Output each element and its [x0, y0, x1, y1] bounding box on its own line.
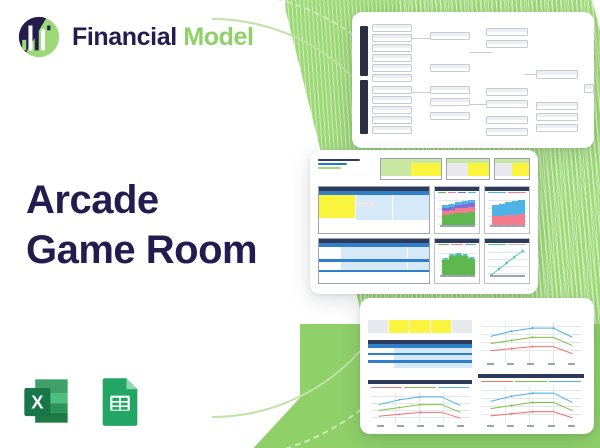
brand-logo: Financial Model — [16, 14, 254, 60]
dupont-node — [486, 100, 528, 108]
dupont-node — [430, 32, 470, 40]
reports-table-revenue-analysis — [368, 340, 472, 376]
chart-legend — [435, 191, 479, 194]
financial-model-circle-chart-logo-icon — [16, 14, 62, 60]
reports-table-assumptions — [368, 320, 472, 338]
stacked-bar — [442, 205, 449, 225]
chart-line-series — [481, 322, 582, 363]
dupont-node — [486, 128, 528, 136]
dashboard-table-cash-inputs — [318, 186, 430, 234]
bar — [462, 254, 469, 275]
chart-x-axis — [440, 275, 475, 278]
dupont-node — [486, 88, 528, 96]
chart-legend — [368, 386, 472, 389]
dupont-node — [372, 64, 412, 72]
chart-bars — [442, 196, 475, 225]
chart-plot-area — [488, 248, 527, 278]
dashboard-thumbnail — [310, 150, 538, 294]
chart-line-series — [481, 386, 582, 423]
bar — [449, 254, 456, 275]
dupont-node — [372, 54, 412, 62]
stacked-bar — [492, 205, 499, 225]
chart-plot-area — [481, 386, 582, 423]
dupont-node — [372, 116, 412, 124]
chart-plot-area — [438, 196, 477, 228]
chart-profitability — [484, 186, 530, 234]
dupont-node — [372, 96, 412, 104]
brand-name-primary: Financial — [72, 23, 177, 51]
dupont-node — [536, 102, 578, 110]
reports-thumbnail — [360, 298, 594, 434]
dupont-node — [430, 98, 470, 106]
chart-gross-margin-projection — [368, 386, 472, 428]
dupont-node — [486, 116, 528, 124]
chart-bars — [492, 196, 525, 225]
chart-top-revenue-streams — [434, 186, 480, 234]
dupont-node — [430, 86, 470, 94]
chart-legend — [478, 380, 584, 383]
page-title-line-2: Game Room — [26, 226, 257, 276]
brand-name-secondary: Model — [183, 23, 253, 51]
dashboard-table-core-financials — [318, 238, 430, 284]
chart-x-axis — [480, 363, 582, 366]
dupont-node — [536, 113, 578, 121]
dashboard-table-key-metrics — [446, 158, 490, 180]
chart-legend — [485, 191, 529, 194]
chart-legend — [485, 243, 529, 246]
dupont-tree-diagram — [352, 12, 594, 148]
stacked-bar — [468, 200, 475, 225]
dupont-node — [372, 86, 412, 94]
chart-title-bar — [368, 380, 472, 384]
background-green-wedge — [248, 324, 368, 448]
chart-bars — [442, 248, 475, 275]
preview-card-financial-dashboard[interactable] — [310, 150, 538, 294]
dupont-node — [486, 40, 528, 48]
dashboard-title-block — [318, 159, 360, 170]
dupont-node — [372, 74, 412, 82]
dupont-connector — [470, 52, 492, 53]
dupont-node — [430, 64, 470, 72]
chart-investment-payback — [484, 238, 530, 284]
preview-card-financial-reports[interactable] — [360, 298, 594, 434]
dupont-node — [430, 112, 470, 120]
chart-x-axis — [440, 225, 475, 228]
dupont-band-income-statement — [360, 26, 368, 76]
promo-slide: Financial Model Arcade Game Room X — [0, 0, 600, 448]
excel-icon[interactable]: X — [20, 375, 72, 427]
dupont-band-balance-sheet — [360, 80, 368, 134]
google-sheets-icon[interactable] — [94, 375, 146, 427]
chart-net-profit-trend — [478, 380, 584, 428]
page-title-line-1: Arcade — [26, 176, 257, 226]
stacked-bar — [518, 200, 525, 225]
chart-plot-area — [488, 196, 527, 228]
svg-text:X: X — [31, 392, 44, 413]
dupont-node — [372, 34, 412, 42]
chart-plot-area — [481, 322, 582, 363]
dupont-node — [536, 124, 578, 132]
dupont-node — [536, 70, 578, 79]
chart-x-axis — [480, 425, 582, 428]
stacked-bar — [505, 202, 512, 225]
stacked-bar — [449, 204, 456, 225]
dupont-node — [372, 106, 412, 114]
chart-plot-area — [438, 248, 477, 278]
stacked-bar — [462, 201, 469, 225]
bar — [442, 258, 449, 275]
dupont-node — [372, 44, 412, 52]
bar — [455, 253, 462, 275]
bar — [468, 257, 475, 275]
chart-plot-area — [371, 392, 470, 423]
chart-cash-flow — [434, 238, 480, 284]
chart-line-series — [488, 248, 527, 278]
chart-ebitda-comparison — [478, 320, 584, 368]
chart-line-series — [371, 392, 470, 423]
page-title: Arcade Game Room — [26, 176, 257, 275]
dupont-node — [372, 126, 412, 134]
dashboard-table-margins — [494, 158, 530, 180]
chart-x-axis — [490, 225, 525, 228]
dupont-connector — [524, 74, 525, 75]
chart-legend — [435, 243, 479, 246]
chart-x-axis — [370, 425, 470, 428]
preview-card-dupont-analysis[interactable] — [352, 12, 594, 148]
stacked-bar — [512, 201, 519, 225]
stacked-bar — [455, 202, 462, 225]
file-format-icons: X — [20, 375, 146, 427]
chart-x-axis — [490, 275, 525, 278]
dupont-node — [486, 28, 528, 36]
chart-title-bar — [478, 374, 584, 378]
brand-wordmark: Financial Model — [72, 23, 254, 52]
dashboard-table-company-info — [380, 158, 442, 180]
dupont-node-roe — [584, 84, 594, 93]
stacked-bar — [499, 204, 506, 225]
dupont-node — [372, 24, 412, 32]
